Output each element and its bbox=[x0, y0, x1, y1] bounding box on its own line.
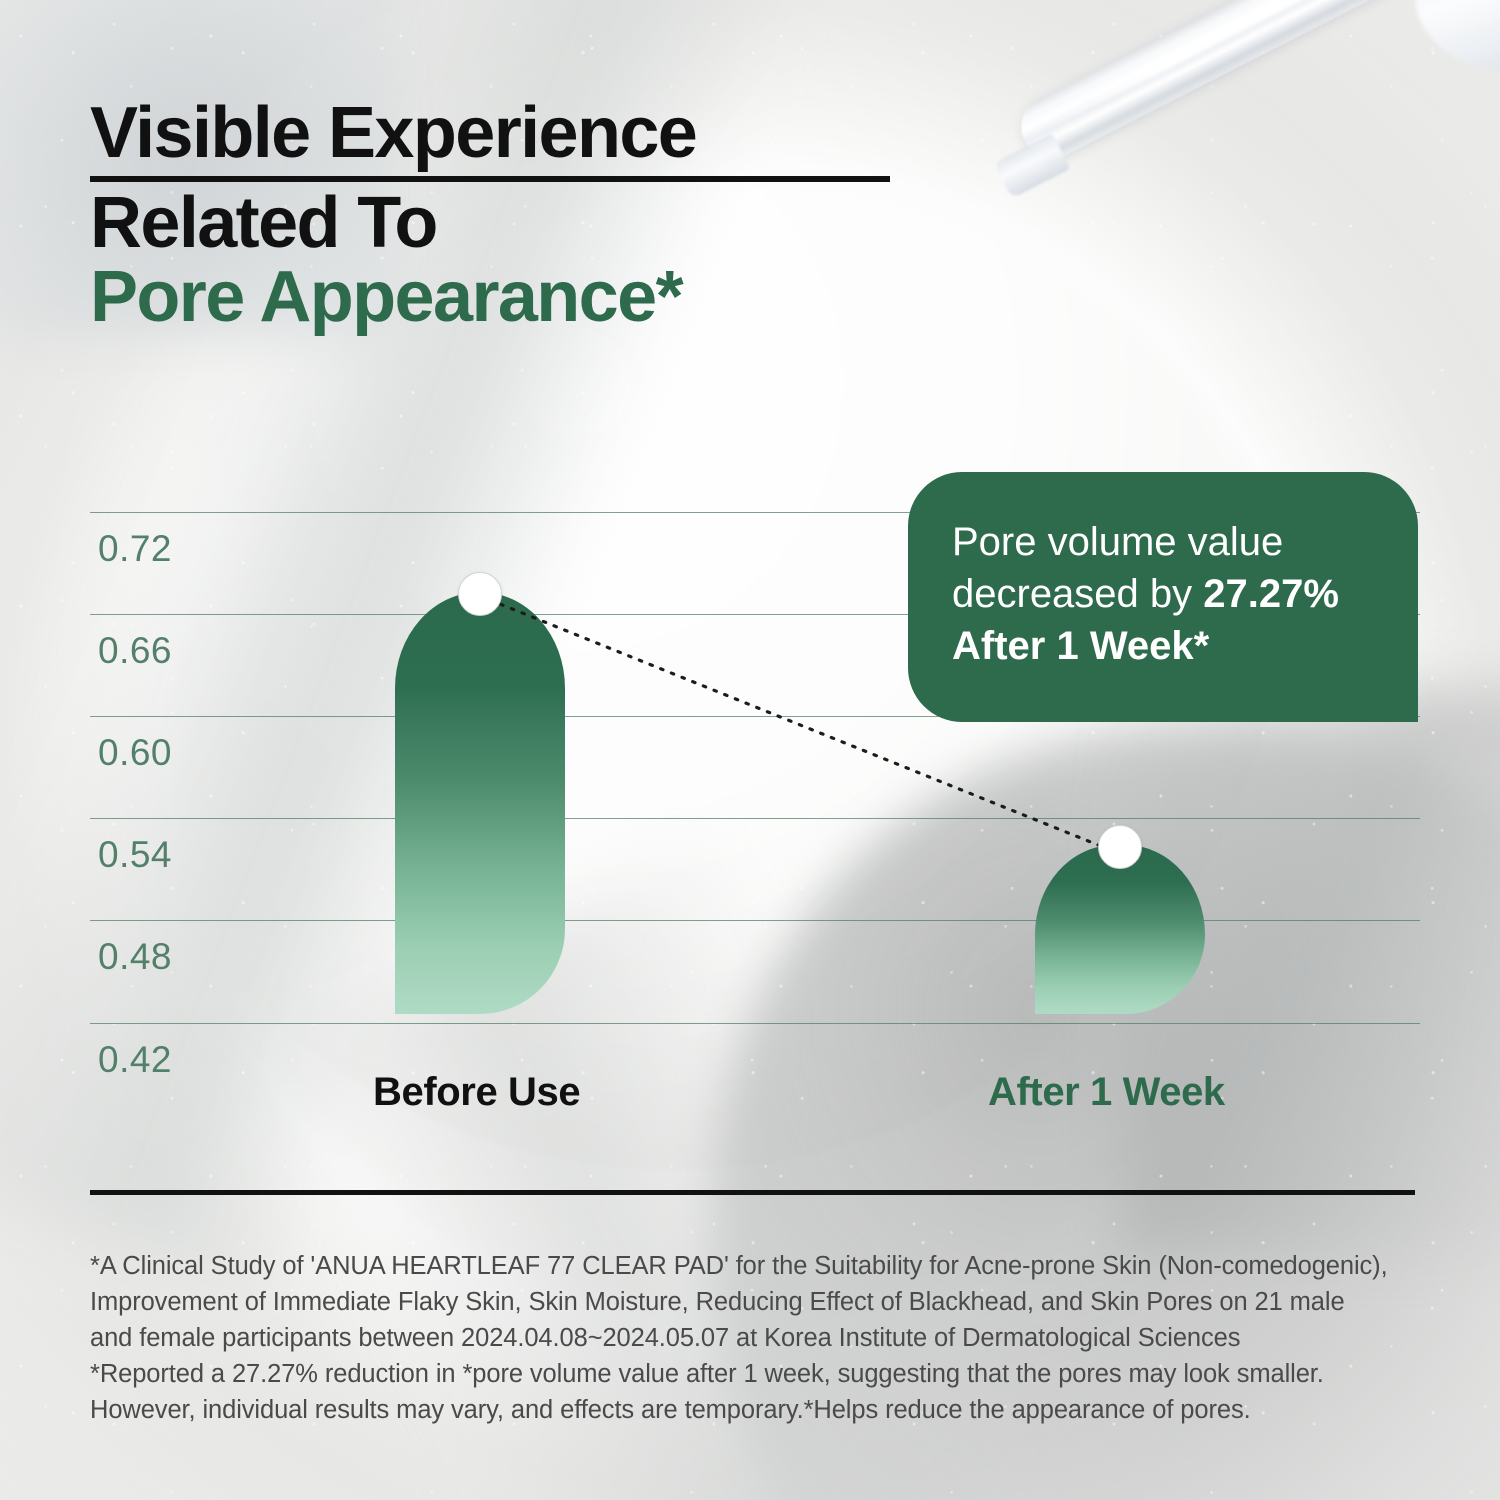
callout-highlight-period: After 1 Week* bbox=[952, 624, 1209, 668]
callout-text: Pore volume value decreased by 27.27%Aft… bbox=[952, 516, 1384, 672]
x-label-before-use: Before Use bbox=[373, 1070, 580, 1115]
marker-before-use bbox=[458, 572, 502, 616]
glass-dropper-icon bbox=[985, 0, 1500, 390]
dropper-bulb bbox=[1415, 0, 1500, 70]
footnote-line-2: Improvement of Immediate Flaky Skin, Ski… bbox=[90, 1284, 1430, 1320]
headline-line-3: Pore Appearance* bbox=[90, 260, 1010, 334]
bar-after-1-week bbox=[1035, 845, 1205, 1014]
marker-after-1-week bbox=[1098, 825, 1142, 869]
infographic-page: Visible Experience Related To Pore Appea… bbox=[0, 0, 1500, 1500]
headline-line-1: Visible Experience bbox=[90, 96, 1010, 170]
callout-bubble: Pore volume value decreased by 27.27%Aft… bbox=[908, 472, 1418, 722]
headline-underline bbox=[90, 176, 890, 182]
callout-highlight-percent: 27.27% bbox=[1203, 572, 1339, 616]
footnote-block: *A Clinical Study of 'ANUA HEARTLEAF 77 … bbox=[90, 1248, 1430, 1428]
footer-divider bbox=[90, 1190, 1415, 1195]
headline-block: Visible Experience Related To Pore Appea… bbox=[90, 96, 1010, 334]
footnote-line-5: However, individual results may vary, an… bbox=[90, 1392, 1430, 1428]
headline-line-2: Related To bbox=[90, 186, 1010, 260]
bar-before-use bbox=[395, 592, 565, 1014]
footnote-line-3: and female participants between 2024.04.… bbox=[90, 1320, 1430, 1356]
x-label-after-1-week: After 1 Week bbox=[988, 1070, 1225, 1115]
footnote-line-4: *Reported a 27.27% reduction in *pore vo… bbox=[90, 1356, 1430, 1392]
footnote-line-1: *A Clinical Study of 'ANUA HEARTLEAF 77 … bbox=[90, 1248, 1430, 1284]
